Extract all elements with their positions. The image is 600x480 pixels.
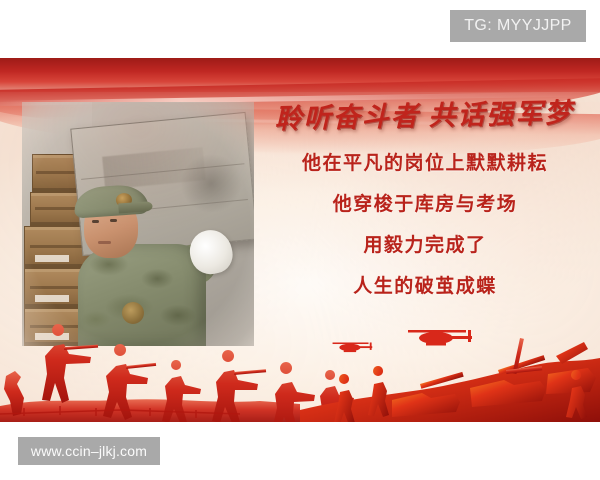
poster-body-text: 他在平凡的岗位上默默耕耘 他穿梭于库房与考场 用毅力完成了 人生的破茧成蝶: [266, 154, 584, 296]
photo-warm-tint: [22, 102, 254, 346]
body-line-4: 人生的破茧成蝶: [266, 277, 584, 296]
soldier-silhouette-band: [0, 314, 600, 422]
helicopter-shape: [333, 330, 472, 352]
poster-image: 聆听奋斗者 共话强军梦 他在平凡的岗位上默默耕耘 他穿梭于库房与考场 用毅力完成…: [0, 58, 600, 422]
poster-title: 聆听奋斗者 共话强军梦: [266, 91, 583, 137]
tg-watermark-badge: TG: MYYJJPP: [450, 10, 586, 42]
body-line-3: 用毅力完成了: [266, 236, 584, 255]
site-watermark: www.ccin–jlkj.com: [18, 437, 160, 465]
soldier-photo-inner: [22, 102, 254, 346]
screenshot-root: 聆听奋斗者 共话强军梦 他在平凡的岗位上默默耕耘 他穿梭于库房与考场 用毅力完成…: [0, 0, 600, 480]
body-line-1: 他在平凡的岗位上默默耕耘: [266, 154, 584, 173]
soldier-photo: [22, 102, 254, 346]
body-line-2: 他穿梭于库房与考场: [266, 195, 584, 214]
